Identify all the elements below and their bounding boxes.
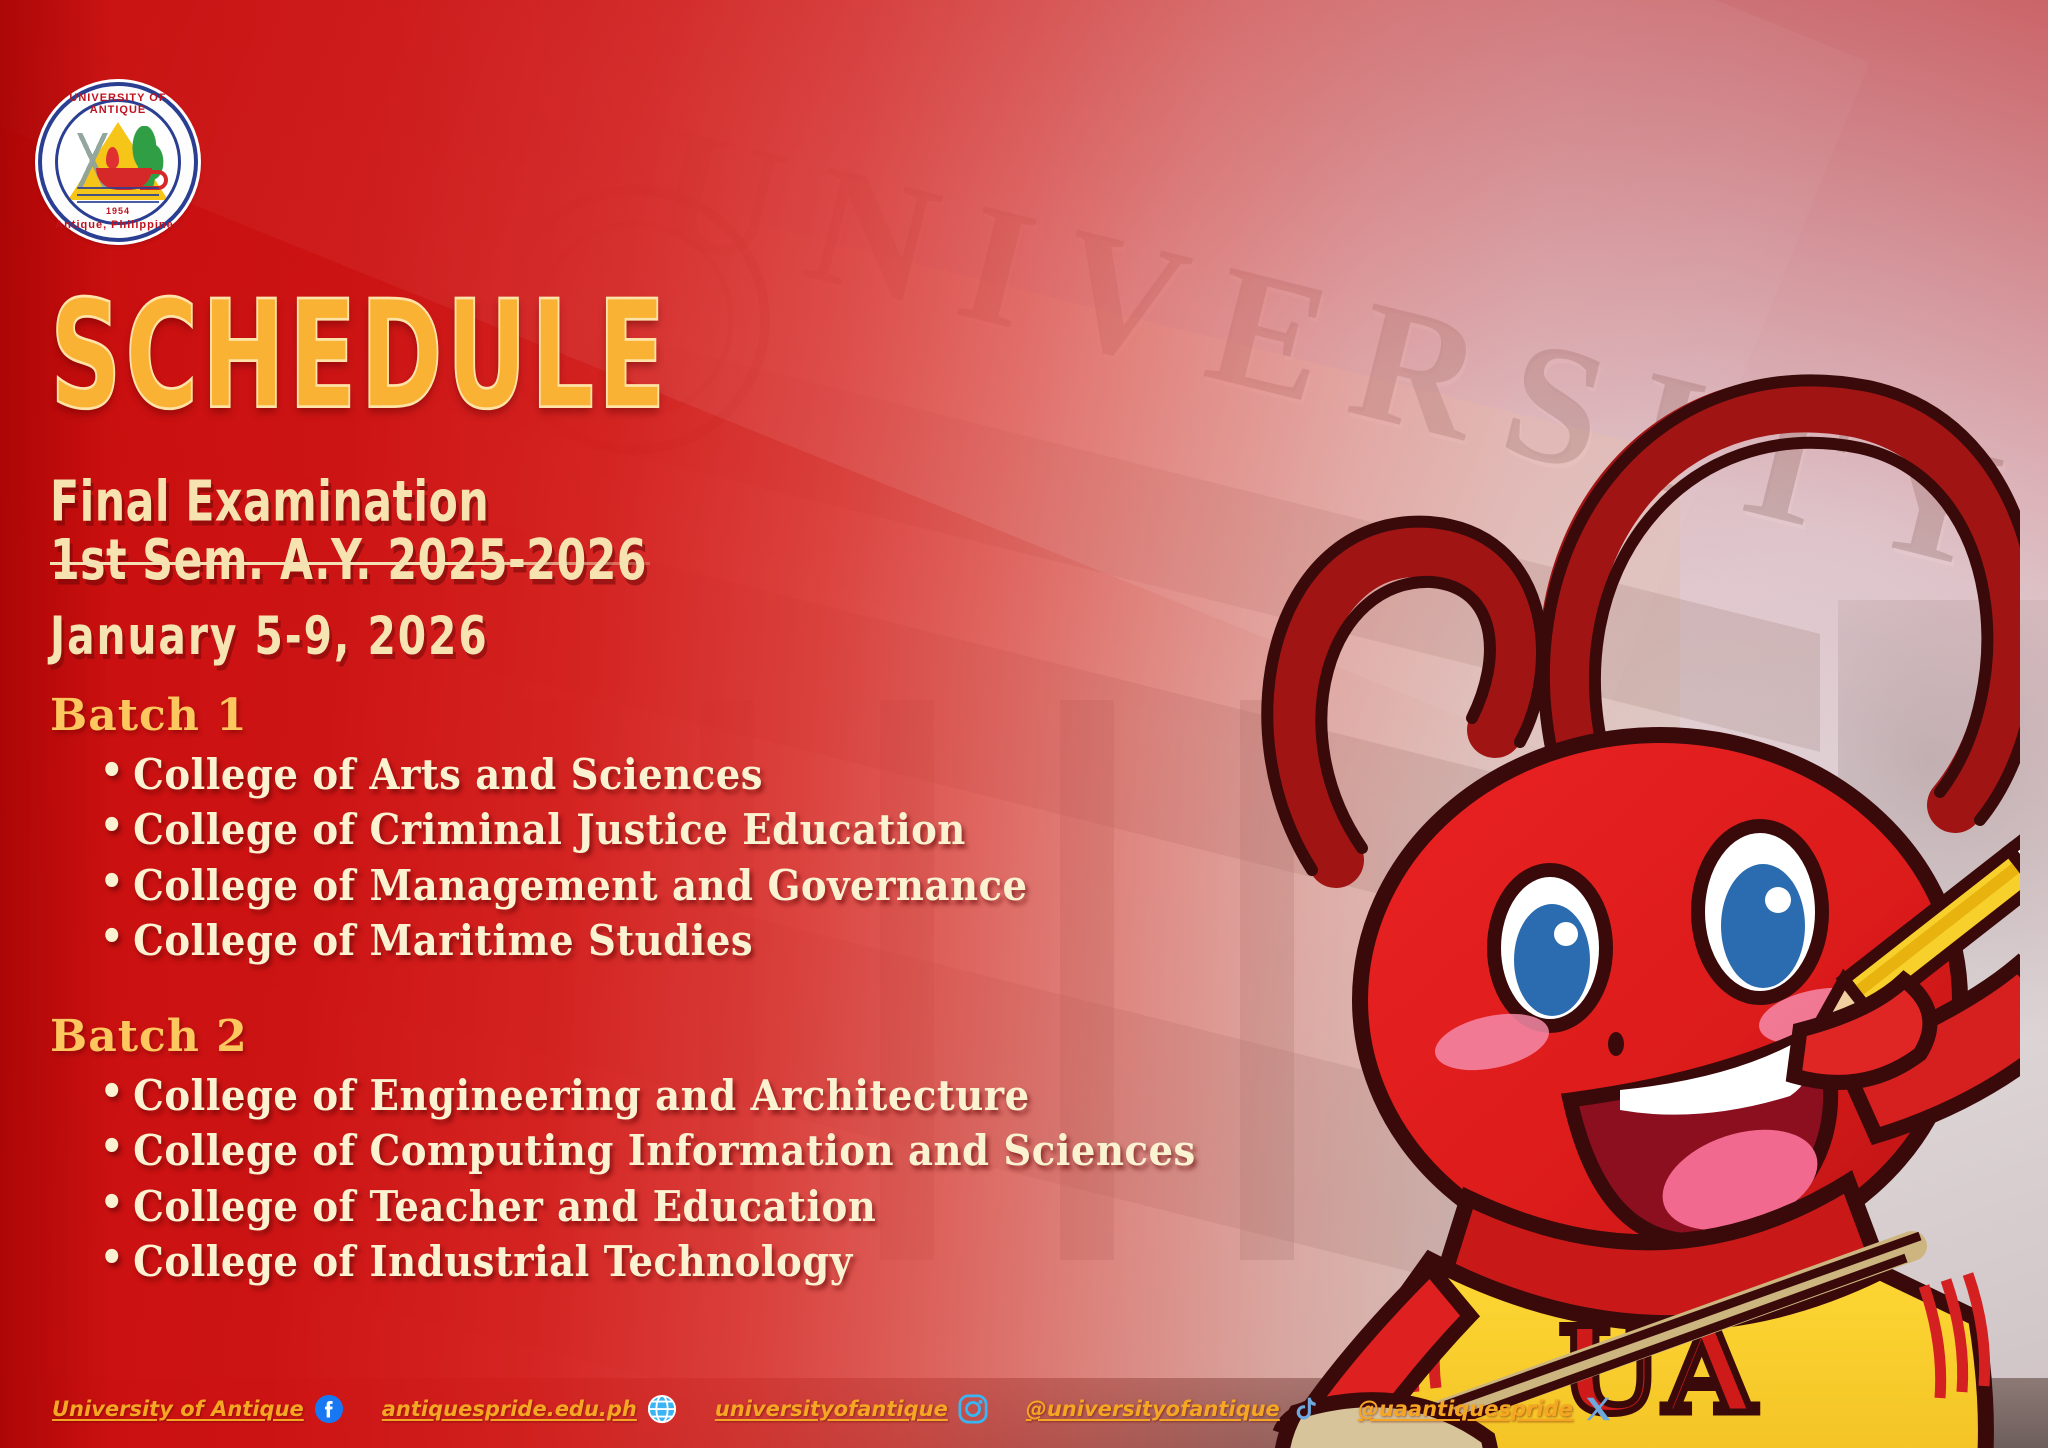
seal-top-text: UNIVERSITY OF ANTIQUE	[42, 92, 194, 116]
list-item: College of Maritime Studies	[100, 913, 1250, 968]
footer-label-x-twitter[interactable]: @uaantiquespride	[1358, 1397, 1573, 1421]
page-title: SCHEDULE	[50, 288, 694, 425]
list-item: College of Computing Information and Sci…	[100, 1123, 1250, 1178]
seal-flame-icon	[106, 147, 119, 169]
footer-social-bar: University of Antique antiquespride.edu.…	[52, 1394, 1613, 1424]
list-item: College of Management and Governance	[100, 858, 1250, 913]
seal-year-text: 1954	[42, 206, 194, 216]
subtitle-block: Final Examination 1st Sem. A.Y. 2025-202…	[50, 473, 729, 590]
list-item: College of Engineering and Architecture	[100, 1068, 1250, 1123]
subtitle-line-1: Final Examination	[50, 470, 489, 535]
tiktok-icon[interactable]	[1290, 1394, 1320, 1424]
university-seal-logo: UNIVERSITY OF ANTIQUE 1954 Antique, Phil…	[38, 82, 198, 242]
poster-root: UNIVERSITY UNIVERSITY OF ANTIQUE 1954 An…	[0, 0, 2048, 1448]
list-item: College of Criminal Justice Education	[100, 802, 1250, 857]
footer-item-facebook[interactable]: University of Antique	[52, 1394, 344, 1424]
footer-item-instagram[interactable]: universityofantique	[715, 1394, 988, 1424]
footer-item-x-twitter[interactable]: @uaantiquespride	[1358, 1394, 1613, 1424]
footer-label-tiktok[interactable]: @universityofantique	[1026, 1397, 1280, 1421]
seal-bottom-text: Antique, Philippines	[42, 219, 194, 231]
footer-item-website[interactable]: antiquespride.edu.ph	[382, 1394, 677, 1424]
footer-item-tiktok[interactable]: @universityofantique	[1026, 1394, 1320, 1424]
list-item: College of Teacher and Education	[100, 1179, 1250, 1234]
facebook-icon[interactable]	[314, 1394, 344, 1424]
footer-label-facebook[interactable]: University of Antique	[52, 1397, 304, 1421]
instagram-icon[interactable]	[958, 1394, 988, 1424]
list-item: College of Arts and Sciences	[100, 747, 1250, 802]
poster-content: UNIVERSITY OF ANTIQUE 1954 Antique, Phil…	[0, 0, 2048, 1448]
seal-waves-icon	[77, 186, 159, 208]
ua-ant-mascot: UA	[1100, 300, 2020, 1448]
globe-icon[interactable]	[647, 1394, 677, 1424]
headline-divider	[50, 562, 650, 565]
footer-label-website[interactable]: antiquespride.edu.ph	[382, 1397, 637, 1421]
list-item: College of Industrial Technology	[100, 1234, 1250, 1289]
footer-label-instagram[interactable]: universityofantique	[715, 1397, 948, 1421]
headline-block: SCHEDULE Final Examination 1st Sem. A.Y.…	[50, 288, 750, 565]
x-twitter-icon[interactable]	[1583, 1394, 1613, 1424]
exam-date: January 5-9, 2026	[50, 605, 489, 667]
